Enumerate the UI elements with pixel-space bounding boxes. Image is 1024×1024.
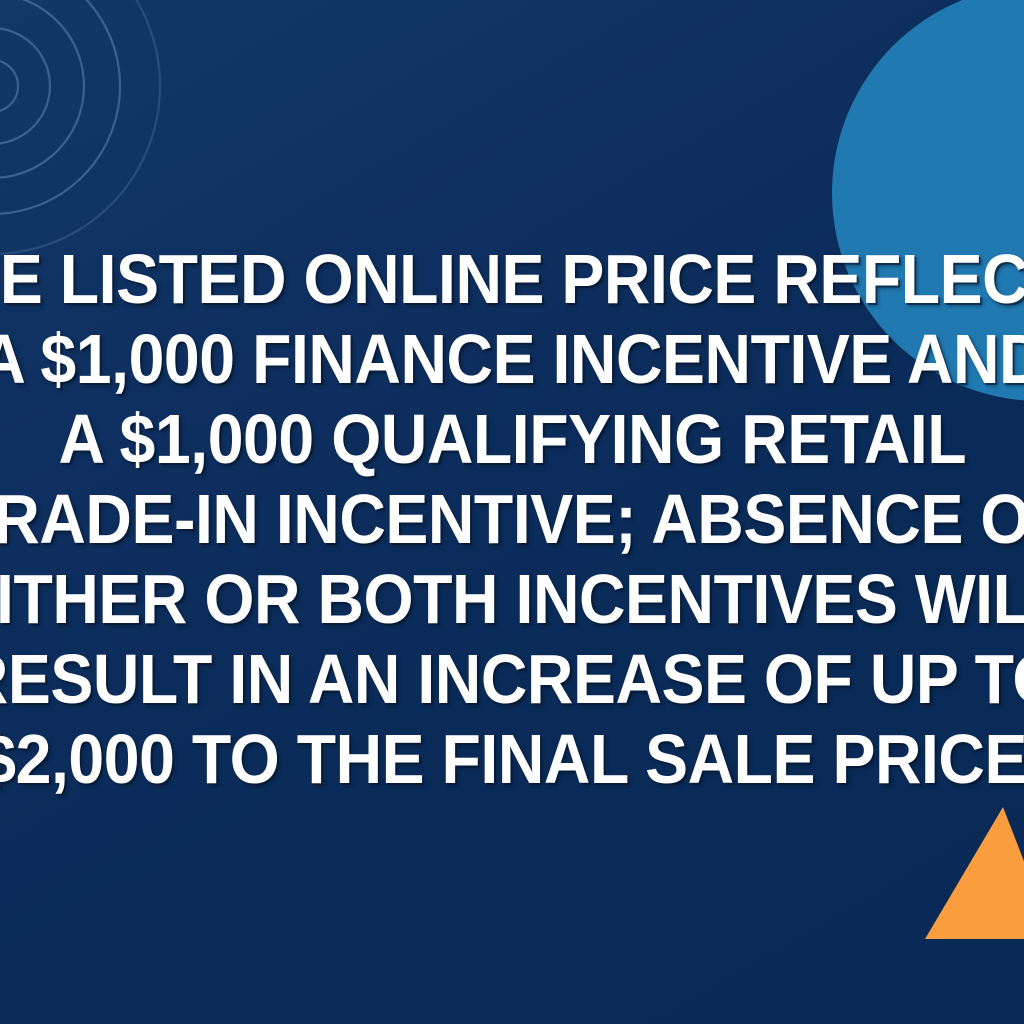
disclaimer-line: A $1,000 FINANCE INCENTIVE AND — [0, 319, 1024, 399]
disclaimer-line: EITHER OR BOTH INCENTIVES WILL — [0, 559, 1024, 639]
disclaimer-line: RESULT IN AN INCREASE OF UP TO — [0, 639, 1024, 719]
disclaimer-line: $2,000 TO THE FINAL SALE PRICE. — [0, 719, 1024, 799]
disclaimer-line: THE LISTED ONLINE PRICE REFLECTS — [0, 239, 1024, 319]
disclaimer-line: TRADE-IN INCENTIVE; ABSENCE OF — [0, 479, 1024, 559]
disclaimer-text-block: THE LISTED ONLINE PRICE REFLECTS A $1,00… — [0, 0, 1024, 1024]
disclaimer-line: A $1,000 QUALIFYING RETAIL — [58, 399, 966, 479]
promo-disclaimer-card: THE LISTED ONLINE PRICE REFLECTS A $1,00… — [0, 0, 1024, 1024]
